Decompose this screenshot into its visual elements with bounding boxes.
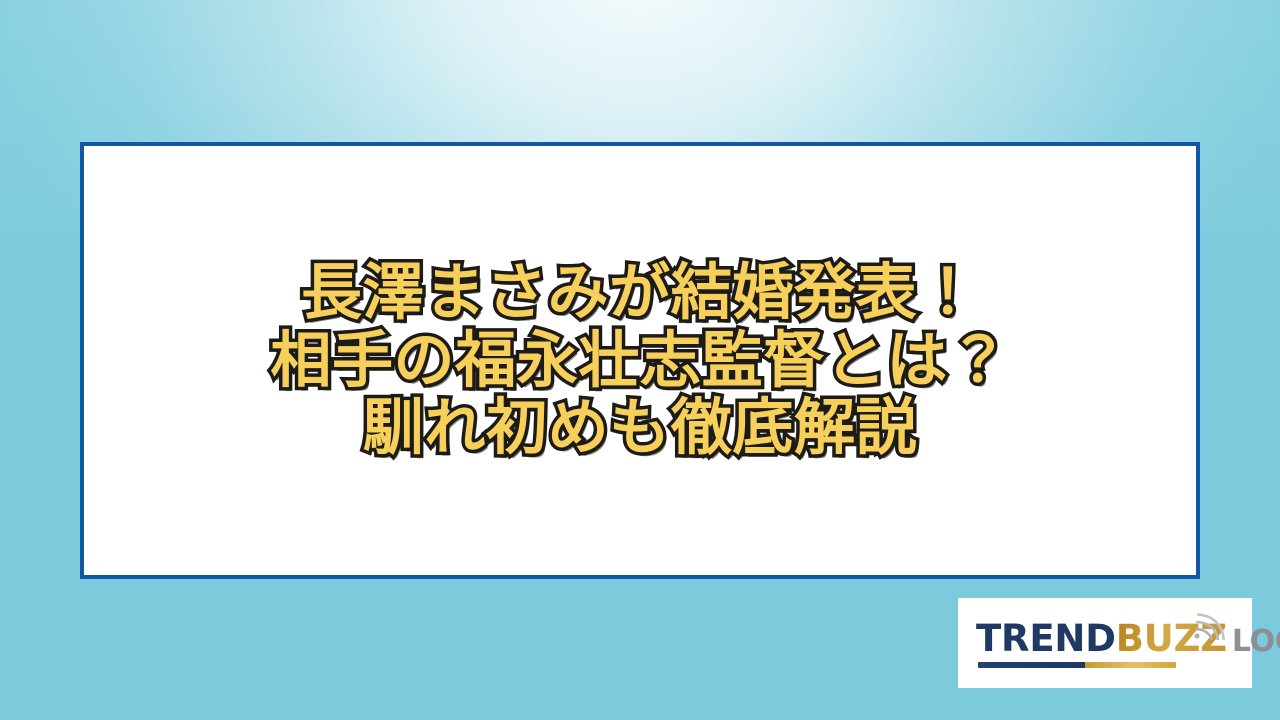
site-logo[interactable]: TRENDBUZZLOG	[958, 598, 1252, 688]
logo-wordmark: TRENDBUZZLOG	[976, 617, 1280, 660]
thumbnail-canvas: 長澤まさみが結婚発表！ 相手の福永壮志監督とは？ 馴れ初めも徹底解説 TREND…	[0, 0, 1280, 720]
headline-line-3: 馴れ初めも徹底解説	[270, 396, 1009, 459]
logo-inner: TRENDBUZZLOG	[976, 612, 1234, 674]
headline-line-1: 長澤まさみが結婚発表！	[270, 261, 1009, 324]
logo-underline-gold	[1085, 662, 1176, 668]
page-title: 長澤まさみが結婚発表！ 相手の福永壮志監督とは？ 馴れ初めも徹底解説	[256, 261, 1023, 459]
logo-underline-bar	[978, 662, 1176, 668]
headline-line-2: 相手の福永壮志監督とは？	[270, 329, 1009, 392]
logo-text-log: LOG	[1232, 624, 1280, 659]
signal-waves-icon	[1192, 610, 1226, 640]
logo-text-trend: TREND	[976, 617, 1116, 660]
logo-underline-navy	[978, 662, 1085, 668]
title-card: 長澤まさみが結婚発表！ 相手の福永壮志監督とは？ 馴れ初めも徹底解説	[80, 142, 1200, 579]
